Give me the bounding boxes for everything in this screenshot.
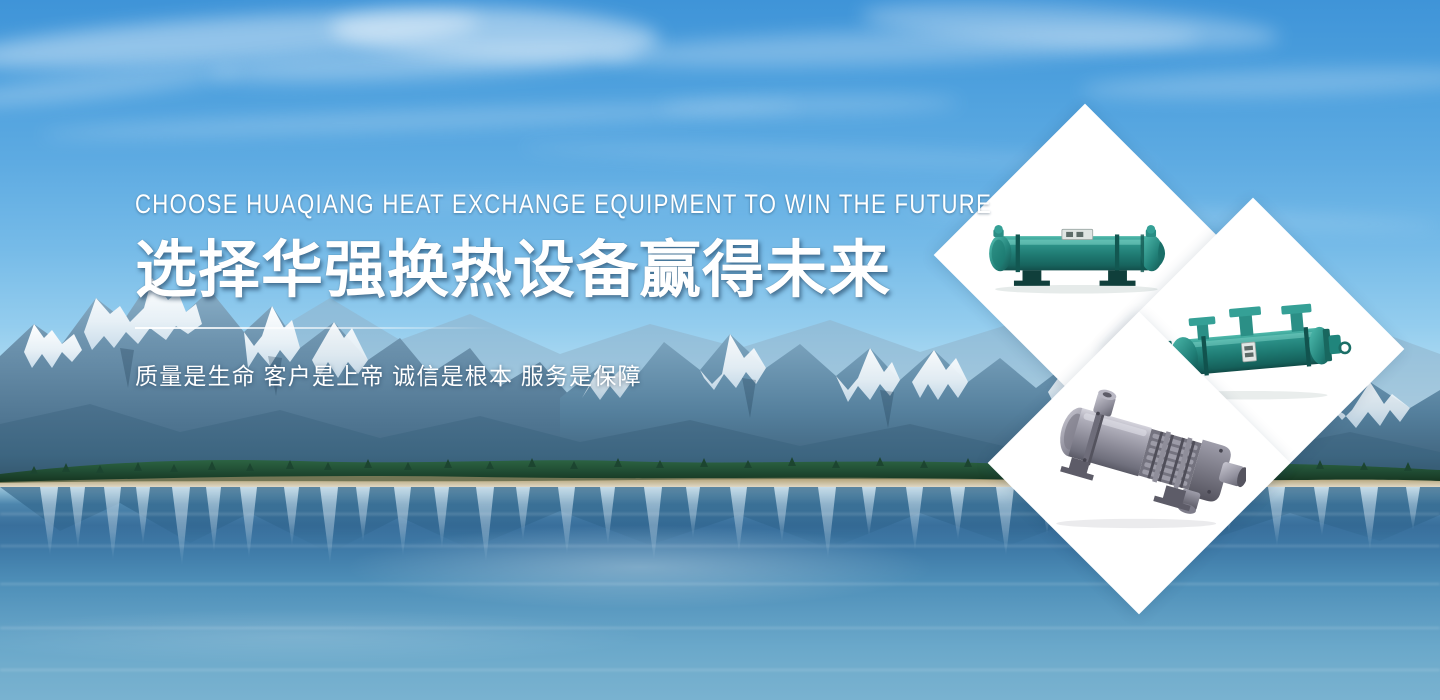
tagline-english: CHOOSE HUAQIANG HEAT EXCHANGE EQUIPMENT … bbox=[135, 190, 758, 220]
cloud-wisp bbox=[210, 37, 641, 89]
cloud-wisp bbox=[1080, 63, 1440, 104]
cloud-wisp bbox=[40, 97, 800, 142]
banner-copy: CHOOSE HUAQIANG HEAT EXCHANGE EQUIPMENT … bbox=[135, 190, 895, 391]
subtitle-chinese: 质量是生命 客户是上帝 诚信是根本 服务是保障 bbox=[135, 357, 895, 391]
cloud-wisp bbox=[859, 0, 1281, 57]
hero-banner: CHOOSE HUAQIANG HEAT EXCHANGE EQUIPMENT … bbox=[0, 0, 1440, 700]
cloud-wisp bbox=[0, 60, 240, 113]
cloud-wisp bbox=[600, 20, 1201, 75]
headline-chinese: 选择华强换热设备赢得未来 bbox=[135, 238, 895, 305]
cloud-wisp bbox=[0, 0, 481, 80]
cloud-wisp bbox=[660, 93, 960, 116]
tube-bundle-oil-cooler-cutaway-icon bbox=[1032, 388, 1246, 538]
product-diamond-group bbox=[960, 130, 1440, 600]
product-card-inner bbox=[1032, 356, 1246, 570]
water-ripple bbox=[0, 669, 1440, 671]
headline-divider bbox=[135, 327, 495, 329]
cloud-wisp bbox=[329, 2, 661, 65]
water-ripple bbox=[0, 627, 1440, 629]
